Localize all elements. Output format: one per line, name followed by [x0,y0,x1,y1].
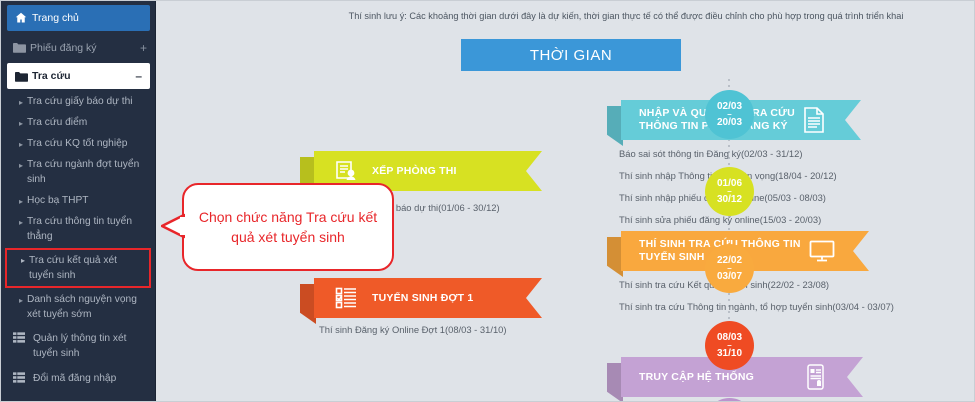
chevron-right-icon: ▸ [19,158,23,173]
timeline-date-circle: 01/06 – 30/12 [705,167,754,216]
date-to: 31/10 [717,348,742,360]
sidebar-item-hoc-ba-thpt[interactable]: ▸ Học bạ THPT [1,190,155,211]
bullet-item: Thí sinh sửa phiếu đăng ký online(15/03 … [619,213,929,227]
chevron-right-icon: ▸ [19,215,23,230]
sidebar-item-tra-cuu-ket-qua-xet-tuyen-sinh[interactable]: ▸ Tra cứu kết quả xét tuyển sinh [5,248,151,288]
sidebar-item-tra-cuu-giay-bao-du-thi[interactable]: ▸ Tra cứu giấy báo dự thi [1,91,155,112]
sidebar-item-home[interactable]: Trang chủ [7,5,150,31]
callout-pointer [161,213,185,239]
expand-plus-icon[interactable]: + [140,41,147,55]
timeline-date-circle: 02/03 – 20/03 [705,90,754,139]
bullet-item: Thí sinh tra cứu Thông tin ngành, tổ hợp… [619,300,919,314]
timeline-bullets-left-2: Thí sinh Đăng ký Online Đợt 1(08/03 - 31… [319,323,569,345]
mobile-tap-icon [799,364,833,390]
list-icon [13,331,33,343]
chevron-right-icon: ▸ [19,293,23,308]
sidebar-item-tra-cuu-thong-tin-tuyen-thang[interactable]: ▸ Tra cứu thông tin tuyển thẳng [1,211,155,247]
sidebar-bottom-label: Đổi mã đăng nhập [33,371,116,386]
timeline-bullets-left-1: Giấy báo dự thi(01/06 - 30/12) [374,201,604,223]
exam-person-icon [330,160,364,182]
bullet-item: Thí sinh Đăng ký Online Đợt 1(08/03 - 31… [319,323,569,337]
annotation-callout: Chọn chức năng Tra cứu kết quả xét tuyển… [182,183,394,271]
sidebar-item-tra-cuu-diem[interactable]: ▸ Tra cứu điểm [1,112,155,133]
sidebar-item-tra-cuu-nganh-dot-tuyen-sinh[interactable]: ▸ Tra cứu ngành đợt tuyển sinh [1,154,155,190]
folder-open-icon [15,71,32,82]
ribbon-tail [300,284,316,324]
sidebar-subitem-label: Tra cứu điểm [27,117,87,128]
sidebar-subitem-label: Học bạ THPT [27,195,89,206]
chevron-right-icon: ▸ [19,116,23,131]
chevron-right-icon: ▸ [19,95,23,110]
sidebar-group-phieu-dang-ky[interactable]: Phiếu đăng ký + [1,34,155,61]
ribbon-title: TRUY CẬP HỆ THỐNG [639,371,799,384]
timeline-ribbon-tuyen-sinh-dot-1: TUYỂN SINH ĐỢT 1 [314,278,542,318]
list-icon [13,371,33,383]
home-icon [15,12,32,24]
date-to: 30/12 [717,194,742,206]
sidebar-subitem-label: Danh sách nguyện vọng xét tuyển sớm [27,294,137,320]
timeline-banner-title: THỜI GIAN [461,39,681,71]
folder-icon [13,42,30,53]
application-window: Trang chủ Phiếu đăng ký + Tra cứu – ▸ [0,0,975,402]
chevron-right-icon: ▸ [21,253,25,268]
document-icon [797,107,831,133]
bullet-item: Giấy báo dự thi(01/06 - 30/12) [374,201,604,215]
checklist-icon [330,287,364,309]
sidebar-item-doi-ma-dang-nhap[interactable]: Đổi mã đăng nhập [1,365,155,390]
timeline-date-circle: 22/02 – 03/07 [705,244,754,293]
bullet-item: Thí sinh nhập phiếu đăng ký online(05/03… [619,191,929,205]
sidebar-group-label: Phiếu đăng ký [30,42,140,54]
timeline-bullets-1: Báo sai sót thông tin Đăng ký(02/03 - 31… [619,147,929,235]
annotation-callout-text: Chọn chức năng Tra cứu kết quả xét tuyển… [184,207,392,247]
ribbon-tail [607,363,623,402]
date-to: 20/03 [717,117,742,129]
sidebar-item-home-label: Trang chủ [32,12,142,24]
timeline-banner: THỜI GIAN [461,39,681,71]
collapse-minus-icon[interactable]: – [135,69,142,83]
ribbon-body: TUYỂN SINH ĐỢT 1 [314,278,542,318]
bullet-item: Báo sai sót thông tin Đăng ký(02/03 - 31… [619,147,929,161]
ribbon-title: TUYỂN SINH ĐỢT 1 [372,292,534,305]
ribbon-tail [607,237,623,277]
sidebar-item-quan-ly-thong-tin-xet-tuyen-sinh[interactable]: Quản lý thông tin xét tuyển sinh [1,325,155,365]
sidebar-group-tra-cuu[interactable]: Tra cứu – [7,63,150,89]
timeline-date-circle: 20/03 – 31/03 [705,398,754,402]
timeline-spine [728,79,730,89]
ribbon-title: XẾP PHÒNG THI [372,165,534,178]
ribbon-tail [607,106,623,146]
sidebar-bottom-label: Quản lý thông tin xét tuyển sinh [33,331,145,361]
sidebar-subitem-label: Tra cứu KQ tốt nghiệp [27,138,127,149]
date-to: 03/07 [717,271,742,283]
sidebar-group-label: Tra cứu [32,70,135,82]
notice-text: Thí sinh lưu ý: Các khoảng thời gian dướ… [276,9,975,23]
chevron-right-icon: ▸ [19,194,23,209]
chevron-right-icon: ▸ [19,137,23,152]
bullet-item: Thí sinh tra cứu Kết quả Tuyển sinh(22/0… [619,278,919,292]
sidebar-subitem-label: Tra cứu thông tin tuyển thẳng [27,216,132,242]
sidebar-submenu: ▸ Tra cứu giấy báo dự thi ▸ Tra cứu điểm… [1,91,155,325]
sidebar-item-danh-sach-nguyen-vong-xet-tuyen-som[interactable]: ▸ Danh sách nguyện vọng xét tuyển sớm [1,289,155,325]
sidebar-item-tra-cuu-kq-tot-nghiep[interactable]: ▸ Tra cứu KQ tốt nghiệp [1,133,155,154]
timeline-bullets-2: Thí sinh tra cứu Kết quả Tuyển sinh(22/0… [619,278,919,322]
sidebar-subitem-label: Tra cứu ngành đợt tuyển sinh [27,159,139,185]
timeline-date-circle: 08/03 – 31/10 [705,321,754,370]
bullet-item: Thí sinh nhập Thông tin Nguyện vọng(18/0… [619,169,929,183]
sidebar: Trang chủ Phiếu đăng ký + Tra cứu – ▸ [1,1,156,402]
sidebar-subitem-label: Tra cứu kết quả xét tuyển sinh [29,255,117,281]
monitor-icon [805,240,839,262]
sidebar-subitem-label: Tra cứu giấy báo dự thi [27,96,133,107]
